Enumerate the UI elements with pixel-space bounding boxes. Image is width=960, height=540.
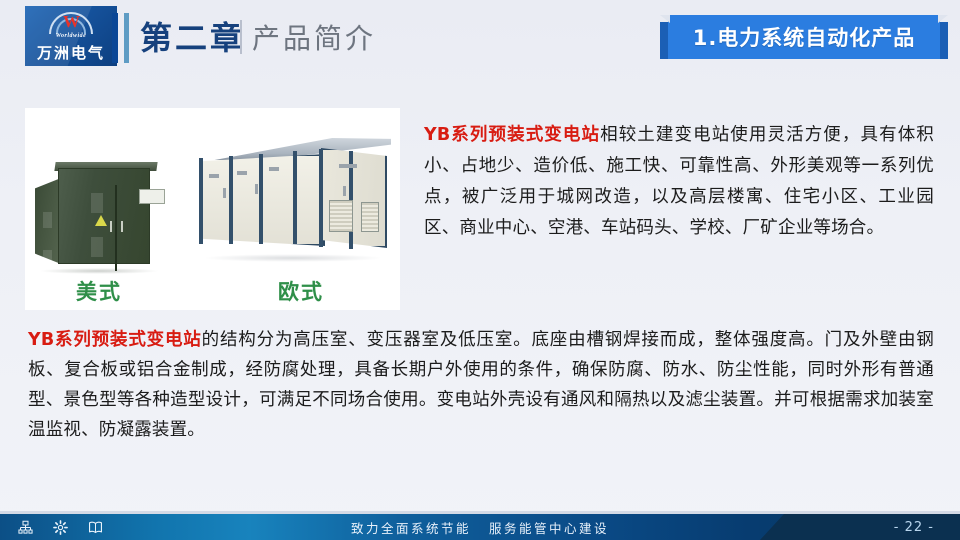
european-door-label xyxy=(269,167,279,171)
chapter-subtitle: 产品简介 xyxy=(252,16,376,62)
header-title-separator xyxy=(240,20,242,54)
american-vent xyxy=(91,237,103,257)
european-shadow xyxy=(203,254,383,262)
american-door-handle xyxy=(121,221,123,232)
american-nameplate xyxy=(139,189,165,204)
paragraph-structure: YB系列预装式变电站的结构分为高压室、变压器室及低压室。底座由槽钢焊接而成，整体… xyxy=(28,325,934,445)
american-vent xyxy=(91,193,103,213)
european-ventilation-louver xyxy=(361,202,379,232)
footer-slogan-right: 服务能管中心建设 xyxy=(489,518,609,537)
european-front-wall xyxy=(321,148,387,248)
slide-header: W Worldwide 万洲电气 第二章 产品简介 1.电力系统自动化产品 xyxy=(0,0,960,88)
european-door-label xyxy=(209,174,219,178)
banner-label: 1.电力系统自动化产品 xyxy=(668,15,940,59)
american-vent xyxy=(43,250,52,266)
european-frame-post xyxy=(229,156,233,244)
caption-american-style: 美式 xyxy=(76,276,122,306)
page-number: - 22 - xyxy=(894,514,934,540)
chapter-title: 第二章 xyxy=(140,14,245,62)
footer-slogan-left: 致力全面系统节能 xyxy=(351,518,471,537)
section-banner: 1.电力系统自动化产品 xyxy=(660,15,948,59)
european-style-substation-image xyxy=(193,122,393,274)
european-frame-post xyxy=(293,151,297,244)
american-cabinet-body xyxy=(58,168,150,264)
logo-company-name: 万洲电气 xyxy=(25,42,117,63)
american-style-substation-image xyxy=(33,156,163,278)
european-door-label xyxy=(237,171,247,175)
slide-root: W Worldwide 万洲电气 第二章 产品简介 1.电力系统自动化产品 xyxy=(0,0,960,540)
european-ventilation-louver xyxy=(329,200,353,232)
caption-european-style: 欧式 xyxy=(278,276,324,306)
european-door-handle xyxy=(255,184,258,194)
american-vent xyxy=(43,212,52,228)
american-shadow xyxy=(39,268,159,274)
logo-worldwide-text: Worldwide xyxy=(25,33,117,39)
company-logo: W Worldwide 万洲电气 xyxy=(25,6,117,66)
european-frame-post xyxy=(259,154,263,244)
warning-triangle-icon xyxy=(95,215,107,226)
paragraph-intro: YB系列预装式变电站相较土建变电站使用灵活方便，具有体积小、占地少、造价低、施工… xyxy=(424,120,934,244)
paragraph-structure-highlight: YB系列预装式变电站 xyxy=(28,330,202,350)
american-door-seam xyxy=(115,185,117,271)
european-door-handle xyxy=(343,186,346,196)
american-door-handle xyxy=(110,221,112,232)
european-frame-post xyxy=(319,149,323,247)
header-accent-bar-light xyxy=(124,13,129,63)
slide-footer: 致力全面系统节能 服务能管中心建设 - 22 - xyxy=(0,514,960,540)
footer-slogan: 致力全面系统节能 服务能管中心建设 xyxy=(0,514,960,540)
european-door-label xyxy=(339,164,357,168)
logo-w-letter: W xyxy=(63,13,79,30)
paragraph-intro-highlight: YB系列预装式变电站 xyxy=(424,125,600,145)
european-frame-post xyxy=(199,158,203,244)
european-door-handle xyxy=(223,188,226,198)
header-accent-bar-dark xyxy=(112,13,118,63)
